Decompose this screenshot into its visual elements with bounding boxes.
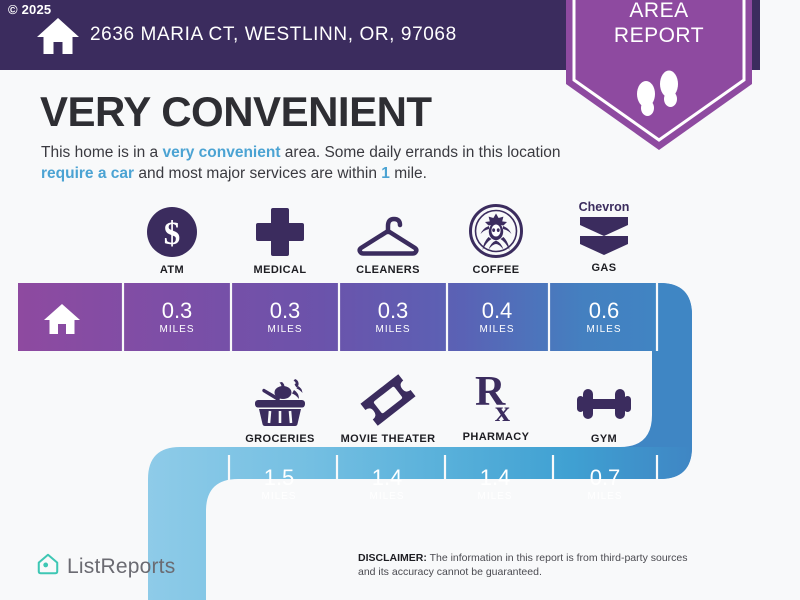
disclaimer-label: DISCLAIMER:	[358, 552, 427, 564]
home-icon	[43, 303, 81, 335]
page-title: VERY CONVENIENT	[40, 88, 432, 136]
category-atm: $ ATM	[112, 202, 232, 276]
home-icon	[36, 16, 80, 56]
desc-text-4: mile.	[390, 165, 427, 182]
property-address: 2636 MARIA CT, WESTLINN, OR, 97068	[90, 24, 457, 46]
area-report-infographic: © 2025 2636 MARIA CT, WESTLINN, OR, 9706…	[0, 0, 800, 600]
listreports-house-icon	[36, 552, 60, 581]
copyright-text: © 2025	[8, 2, 51, 17]
category-gym: GYM	[544, 371, 664, 445]
svg-text:$: $	[164, 216, 181, 252]
category-cleaners: CLEANERS	[328, 202, 448, 276]
desc-highlight-1: very convenient	[162, 144, 280, 161]
chevron-logo-icon: Chevron	[544, 200, 664, 256]
clothes-hanger-icon	[328, 202, 448, 258]
svg-text:x: x	[495, 395, 510, 425]
category-movie-theater: MOVIE THEATER	[328, 371, 448, 445]
grocery-basket-icon	[220, 371, 340, 427]
listreports-logo[interactable]: ListReports	[36, 552, 175, 581]
category-label: GROCERIES	[220, 433, 340, 445]
category-label: GYM	[544, 433, 664, 445]
category-coffee: COFFEE	[436, 202, 556, 276]
area-report-badge: AREA REPORT	[566, 0, 752, 150]
disclaimer: DISCLAIMER: The information in this repo…	[358, 552, 688, 579]
listreports-wordmark: ListReports	[67, 555, 175, 579]
medical-cross-icon	[220, 202, 340, 258]
summary-description: This home is in a very convenient area. …	[41, 142, 571, 184]
category-pharmacy: R x PHARMACY	[436, 369, 556, 443]
category-label: GAS	[544, 262, 664, 274]
desc-text-3: and most major services are within	[134, 165, 381, 182]
desc-highlight-2: require a car	[41, 165, 134, 182]
movie-ticket-icon	[328, 371, 448, 427]
category-label: PHARMACY	[436, 431, 556, 443]
starbucks-siren-icon	[436, 202, 556, 258]
category-gas: Chevron GAS	[544, 200, 664, 274]
dollar-circle-icon: $	[112, 202, 232, 258]
rx-icon: R x	[436, 369, 556, 425]
desc-text-1: This home is in a	[41, 144, 162, 161]
dumbbell-icon	[544, 371, 664, 427]
desc-text-2: area. Some daily errands in this locatio…	[281, 144, 561, 161]
desc-highlight-3: 1	[381, 165, 390, 182]
category-medical: MEDICAL	[220, 202, 340, 276]
category-label: MOVIE THEATER	[328, 433, 448, 445]
svg-text:Chevron: Chevron	[579, 200, 630, 214]
category-groceries: GROCERIES	[220, 371, 340, 445]
